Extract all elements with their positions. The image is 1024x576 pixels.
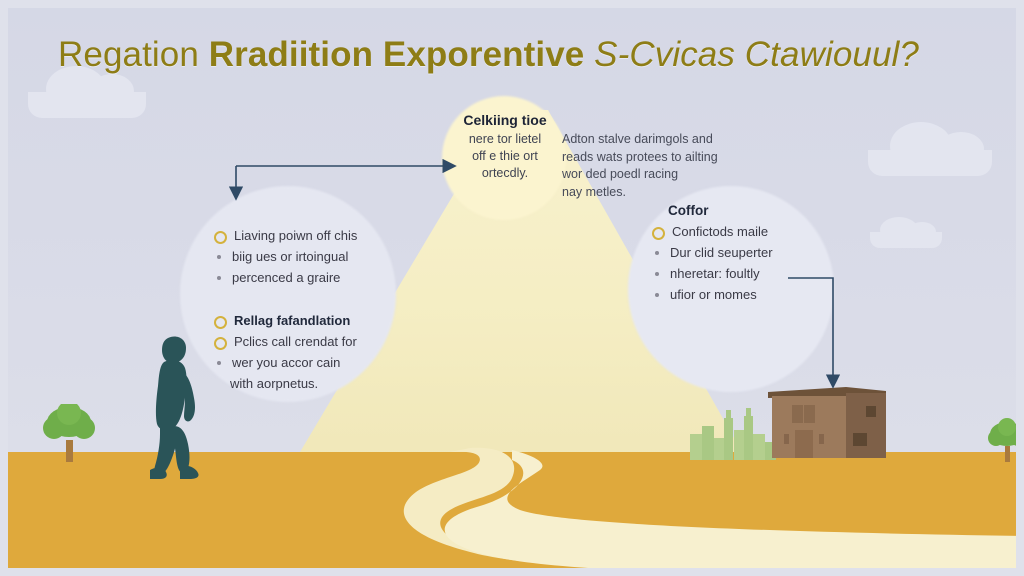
right-paragraph-line-1: Adton stalve darimgols and — [562, 131, 752, 149]
ring-bullet-icon — [214, 337, 227, 350]
page-title: Regation Rradiition Exporentive S-Cvicas… — [58, 34, 988, 76]
dot-bullet-icon — [655, 272, 659, 276]
center-callout-line-1: nere tor lietel — [447, 131, 563, 148]
right-paragraph-line-4: nay metles. — [562, 184, 752, 202]
right-list-item: nheretar: foultly — [652, 264, 773, 283]
dot-bullet-icon — [655, 293, 659, 297]
bullet-spacer — [652, 206, 661, 215]
walking-person-silhouette — [126, 330, 218, 480]
dot-bullet-icon — [217, 276, 221, 280]
illustration-canvas: Regation Rradiition Exporentive S-Cvicas… — [0, 0, 1024, 576]
left-list-secondary-item-label: Pclics call crendat for — [234, 332, 357, 351]
title-part-two: Rradiition Exporentive — [209, 35, 594, 74]
right-list-item-label: Dur clid seuperter — [670, 243, 773, 262]
left-list-primary-item-label: biig ues or irtoingual — [232, 247, 348, 266]
right-list-item: ufior or momes — [652, 285, 773, 304]
bullet-spacer — [214, 379, 223, 388]
left-list-secondary-item: wer you accor cain — [214, 353, 357, 372]
right-list-item: Coffor — [652, 201, 773, 220]
left-list-secondary-item: Pclics call crendat for — [214, 332, 357, 351]
left-list-secondary: Rellag fafandlationPclics call crendat f… — [214, 311, 357, 395]
right-list-item: Dur clid seuperter — [652, 243, 773, 262]
ring-bullet-icon — [214, 316, 227, 329]
left-list-primary-item-label: Liaving poiwn off chis — [234, 226, 357, 245]
dot-bullet-icon — [217, 255, 221, 259]
tree-left — [36, 404, 104, 462]
center-callout-line-2: off e thie ort — [447, 148, 563, 165]
left-list-primary: Liaving poiwn off chisbiig ues or irtoin… — [214, 226, 357, 289]
left-list-primary-item: percenced a graire — [214, 268, 357, 287]
right-list-item-label: Confictods maile — [672, 222, 768, 241]
right-paragraph-line-2: reads wats protees to ailting — [562, 149, 752, 167]
left-list-secondary-item-label: with aorpnetus. — [230, 374, 318, 393]
right-paragraph: Adton stalve darimgols and reads wats pr… — [562, 131, 752, 201]
left-list-primary-item-label: percenced a graire — [232, 268, 340, 287]
right-list: CofforConfictods maileDur clid seuperter… — [652, 201, 773, 306]
left-list-primary-item: Liaving poiwn off chis — [214, 226, 357, 245]
left-list-secondary-item-label: Rellag fafandlation — [234, 311, 350, 330]
ring-bullet-icon — [214, 231, 227, 244]
right-list-item-label: nheretar: foultly — [670, 264, 760, 283]
left-list-secondary-item: with aorpnetus. — [214, 374, 357, 393]
left-list-secondary-item: Rellag fafandlation — [214, 311, 357, 330]
tree-right — [986, 418, 1024, 462]
dot-bullet-icon — [217, 361, 221, 365]
dot-bullet-icon — [655, 251, 659, 255]
right-list-item-label: ufior or momes — [670, 285, 757, 304]
center-callout-line-3: ortecdly. — [447, 165, 563, 182]
left-list-primary-item: biig ues or irtoingual — [214, 247, 357, 266]
center-callout-heading: Celkiing tioe — [447, 112, 563, 128]
center-callout: Celkiing tioe nere tor lietel off e thie… — [447, 112, 563, 182]
right-paragraph-line-3: wor ded poedl racing — [562, 166, 752, 184]
ring-bullet-icon — [652, 227, 665, 240]
right-list-item: Confictods maile — [652, 222, 773, 241]
title-part-three: S-Cvicas Ctawiouul? — [594, 35, 919, 74]
right-list-item-label: Coffor — [668, 201, 709, 220]
left-list-secondary-item-label: wer you accor cain — [232, 353, 340, 372]
building-illustration — [762, 378, 886, 460]
title-part-one: Regation — [58, 35, 209, 74]
